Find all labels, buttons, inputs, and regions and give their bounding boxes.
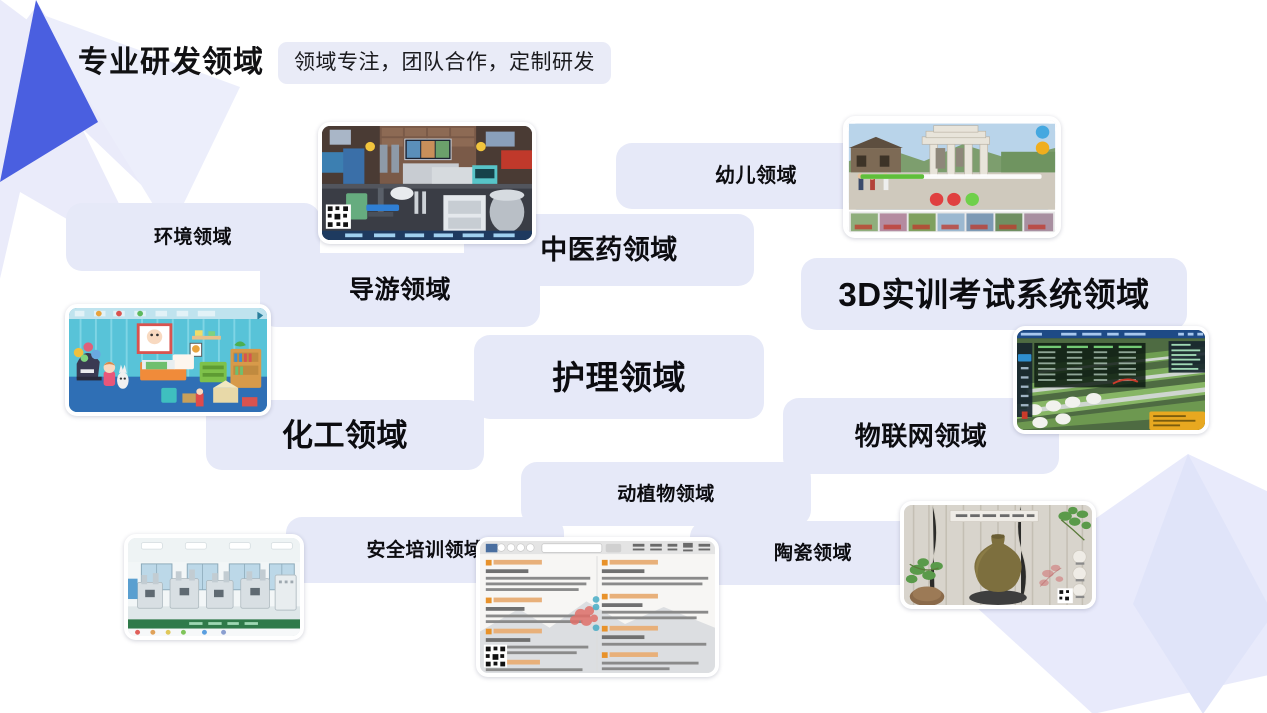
thumbnail-factory-interior[interactable] <box>124 534 304 640</box>
domain-label-kindergarten: 幼儿领域 <box>715 166 797 186</box>
thumbnail-plant-database[interactable] <box>476 537 719 677</box>
domain-pill-exam-3d[interactable]: 3D实训考试系统领域 <box>801 258 1187 330</box>
domain-pill-flora-fauna[interactable]: 动植物领域 <box>521 462 811 526</box>
thumbnail-kids-bedroom[interactable] <box>65 304 271 416</box>
page-subtitle: 领域专注，团队合作，定制研发 <box>294 52 595 73</box>
domain-label-flora-fauna: 动植物领域 <box>617 485 715 504</box>
page-subtitle-pill: 领域专注，团队合作，定制研发 <box>278 42 611 84</box>
domain-label-ceramics: 陶瓷领域 <box>774 544 852 563</box>
domain-label-safety: 安全培训领域 <box>366 541 483 560</box>
domain-label-environment: 环境领域 <box>154 228 232 247</box>
domain-pill-nursing[interactable]: 护理领域 <box>474 335 764 419</box>
domain-pill-tour-guide[interactable]: 导游领域 <box>260 253 540 327</box>
domain-label-exam-3d: 3D实训考试系统领域 <box>838 278 1149 311</box>
thumbnail-smart-greenhouse[interactable] <box>1013 326 1209 434</box>
domain-label-tour-guide: 导游领域 <box>349 278 451 303</box>
thumbnail-pottery-vase[interactable] <box>900 501 1096 609</box>
domain-label-chemical: 化工领域 <box>282 420 408 451</box>
page-header: 专业研发领域 领域专注，团队合作，定制研发 <box>78 42 611 84</box>
domain-label-tcm: 中医药领域 <box>540 237 678 264</box>
thumbnail-vr-tour-panorama[interactable] <box>843 116 1061 238</box>
thumbnail-chem-lab-3d[interactable] <box>318 122 536 244</box>
domain-label-nursing: 护理领域 <box>552 361 686 394</box>
slide-canvas: 环境领域 导游领域 中医药领域 幼儿领域 3D实训考试系统领域 护理领域 化工领… <box>0 0 1267 713</box>
page-title: 专业研发领域 <box>78 48 264 78</box>
domain-label-iot: 物联网领域 <box>855 423 988 449</box>
